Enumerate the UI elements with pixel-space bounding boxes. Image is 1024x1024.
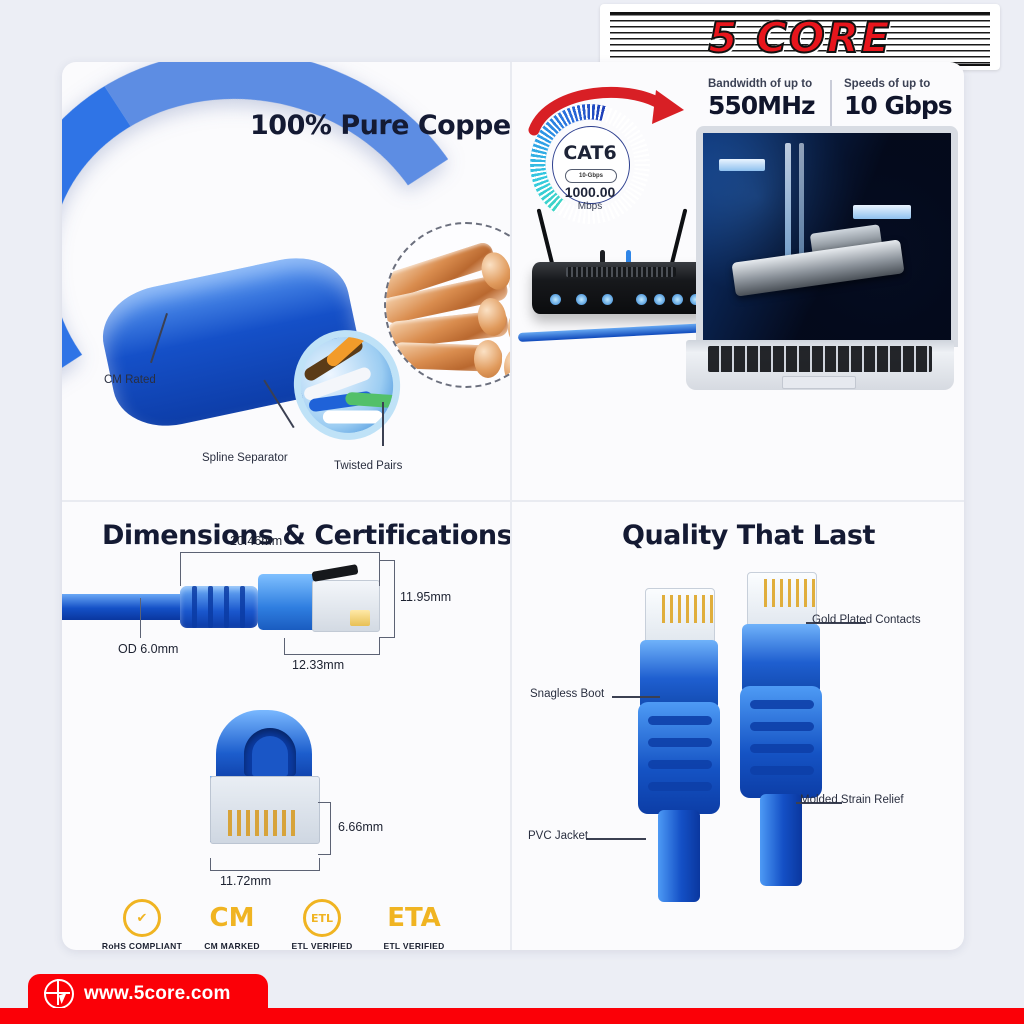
connector-boot	[638, 702, 720, 814]
section-performance: Bandwidth of up to 550MHz Speeds of up t…	[512, 62, 964, 500]
router-antenna-right	[669, 208, 688, 269]
dim-plug-width: 11.72mm	[220, 874, 271, 888]
dim-tick	[379, 637, 395, 638]
router-wlan-led	[602, 294, 613, 305]
cert-cm-label: CM MARKED	[180, 941, 284, 950]
label-spline-separator: Spline Separator	[202, 452, 288, 464]
dim-line-contact	[330, 802, 331, 854]
cert-cm: CM CM MARKED	[180, 898, 284, 950]
spec-bandwidth-value: 550MHz	[708, 91, 815, 120]
section-pure-copper: 100% Pure Copper CM Rated Spline Separat…	[62, 62, 510, 500]
leader-line-pvc	[586, 838, 646, 840]
dim-tick	[379, 552, 380, 586]
product-infographic: 5 CORE	[0, 0, 1024, 1024]
cert-rohs: ✔ RoHS COMPLIANT	[90, 898, 194, 950]
scene-panel	[853, 205, 911, 219]
dim-tick	[284, 638, 285, 654]
dim-line-width	[210, 870, 320, 871]
dim-tick	[140, 598, 141, 638]
spec-speed-value: 10 Gbps	[844, 91, 952, 120]
label-gold-plated-contacts: Gold Plated Contacts	[812, 614, 921, 626]
rohs-icon: ✔	[90, 898, 194, 938]
router-lan-led	[636, 294, 647, 305]
section-quality: Quality That Last	[512, 502, 964, 950]
dim-tick	[210, 858, 211, 871]
dim-plug-length: 20.46mm	[230, 534, 282, 548]
wifi-router	[532, 262, 708, 314]
cert-etl: ETL ETL VERIFIED	[270, 898, 374, 950]
etl-icon: ETL	[270, 898, 374, 938]
patch-cable	[518, 323, 710, 342]
gauge-value: 1000.00	[530, 184, 650, 200]
cert-eta-label: ETL VERIFIED	[362, 941, 466, 950]
scene-pillar	[785, 143, 791, 263]
spec-divider	[830, 80, 832, 128]
laptop-game-scene	[703, 133, 951, 347]
cert-eta: ETA ETL VERIFIED	[362, 898, 466, 950]
boot-rib	[224, 586, 229, 628]
boot-rib	[750, 744, 814, 753]
footer-bar	[0, 1008, 1024, 1024]
router-lan-led	[654, 294, 665, 305]
scene-panel	[719, 159, 765, 171]
boot-rib	[750, 766, 814, 775]
cm-icon: CM	[180, 898, 284, 938]
dim-contact-height: 6.66mm	[338, 820, 383, 834]
dim-tick	[318, 802, 331, 803]
content-card: 100% Pure Copper CM Rated Spline Separat…	[62, 62, 964, 950]
boot-rib	[240, 586, 245, 628]
plug-gold-contacts	[350, 610, 370, 626]
laptop	[686, 126, 956, 416]
dim-tick	[379, 638, 380, 654]
dim-line-depth	[284, 654, 380, 655]
laptop-keyboard	[708, 346, 932, 372]
spec-speed-caption: Speeds of up to	[844, 78, 952, 90]
boot-rib	[750, 722, 814, 731]
boot-rib	[750, 700, 814, 709]
plug-front-hole-inner	[252, 736, 288, 776]
connector-gold-pins	[764, 579, 818, 607]
plug-front-view	[210, 710, 318, 858]
spec-bandwidth-caption: Bandwidth of up to	[708, 78, 815, 90]
dim-tick	[180, 552, 181, 586]
dim-plug-depth: 12.33mm	[292, 658, 344, 672]
boot-rib	[208, 586, 213, 628]
dim-line-height	[394, 560, 395, 638]
label-cm-rated: CM Rated	[104, 374, 156, 386]
connector-pvc-jacket	[760, 794, 802, 886]
plug-front-pins	[228, 810, 300, 836]
leader-line-snagless	[612, 696, 660, 698]
wire-white-2	[323, 411, 383, 424]
copper-rod-tip	[504, 348, 510, 386]
website-url: www.5core.com	[84, 983, 231, 1005]
dim-tick	[319, 858, 320, 871]
cable-jacket-profile	[62, 594, 184, 620]
connector-pvc-jacket	[658, 810, 700, 902]
dim-cable-od: OD 6.0mm	[118, 642, 178, 656]
quality-title: Quality That Last	[622, 520, 875, 551]
connector-gold-pins	[662, 595, 716, 623]
gauge-badge: 10-Gbps	[565, 169, 617, 183]
router-internet-led	[576, 294, 587, 305]
leader-line-twisted	[382, 402, 384, 446]
cert-rohs-label: RoHS COMPLIANT	[90, 941, 194, 950]
spec-bandwidth: Bandwidth of up to 550MHz	[708, 78, 815, 120]
connector-blue-body	[640, 640, 718, 710]
label-twisted-pairs: Twisted Pairs	[334, 460, 402, 472]
boot-rib	[648, 738, 712, 747]
dim-line-length	[180, 552, 380, 553]
scene-pillar	[799, 143, 804, 263]
section-dimensions: Dimensions & Certifications 20.46mm 11.9…	[62, 502, 510, 950]
dim-tick	[379, 560, 395, 561]
boot-rib	[648, 760, 712, 769]
cert-etl-label: ETL VERIFIED	[270, 941, 374, 950]
label-molded-strain-relief: Molded Strain Relief	[800, 794, 904, 806]
connector-blue-body	[742, 624, 820, 694]
plug-blue-profile	[258, 574, 320, 630]
label-pvc-jacket: PVC Jacket	[528, 830, 588, 842]
plug-front-boot	[216, 710, 312, 782]
etl-ring-icon: ETL	[303, 899, 341, 937]
cursor-icon	[59, 993, 69, 1004]
boot-rib	[192, 586, 197, 628]
dim-plug-height: 11.95mm	[400, 590, 451, 604]
connector-boot	[740, 686, 822, 798]
boot-rib	[648, 782, 712, 791]
label-snagless-boot: Snagless Boot	[530, 688, 604, 700]
logo-text: 5 CORE	[600, 4, 1000, 70]
router-antenna-left	[537, 208, 556, 269]
rohs-check-icon: ✔	[123, 899, 161, 937]
router-lan-led	[672, 294, 683, 305]
dim-tick	[318, 854, 331, 855]
gauge-category: CAT6	[530, 142, 650, 164]
eta-icon: ETA	[362, 898, 466, 938]
dimensions-title: Dimensions & Certifications	[102, 520, 510, 551]
router-vent	[566, 267, 676, 277]
brand-logo: 5 CORE	[600, 4, 1000, 70]
laptop-screen	[696, 126, 958, 347]
laptop-trackpad	[782, 376, 856, 389]
router-power-led	[550, 294, 561, 305]
boot-rib	[648, 716, 712, 725]
pure-copper-title: 100% Pure Copper	[250, 110, 510, 141]
globe-icon	[44, 979, 74, 1009]
spec-speed: Speeds of up to 10 Gbps	[844, 78, 952, 120]
gauge-unit: Mbps	[530, 201, 650, 212]
copper-rod-tip	[474, 340, 502, 378]
